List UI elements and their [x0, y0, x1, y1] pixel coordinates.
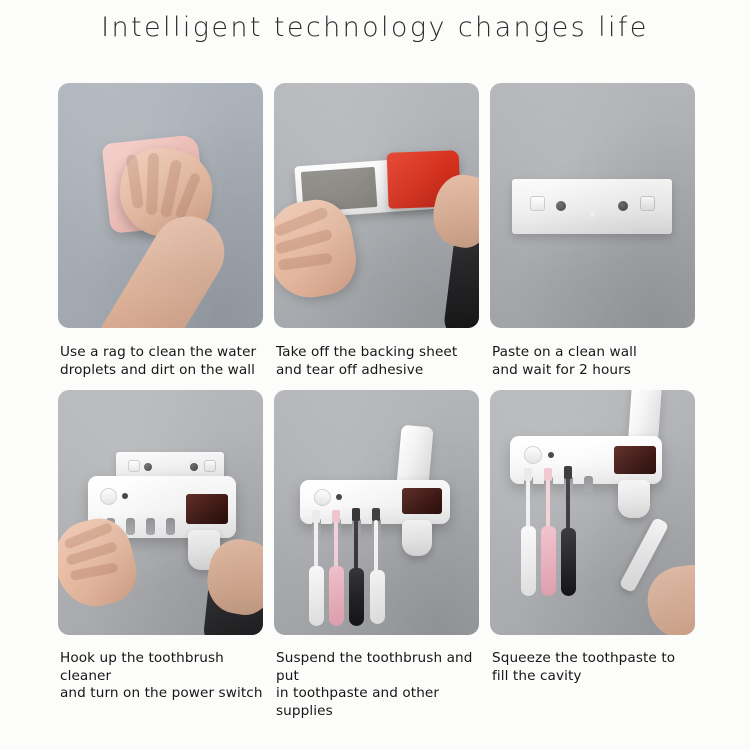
- step-caption-2: Take off the backing sheet and tear off …: [276, 344, 479, 379]
- brush-slot: [166, 518, 175, 535]
- power-button: [314, 489, 331, 506]
- step-caption-6: Squeeze the toothpaste to fill the cavit…: [492, 650, 695, 685]
- step-caption-3: Paste on a clean wall and wait for 2 hou…: [492, 344, 695, 379]
- mount-tab-right: [204, 460, 216, 472]
- step-photo-5: [274, 390, 479, 635]
- step-cell-3: Paste on a clean wall and wait for 2 hou…: [490, 83, 695, 379]
- step-cell-1: Use a rag to clean the water droplets an…: [58, 83, 263, 379]
- mount-tab-right: [640, 196, 655, 211]
- step-caption-4: Hook up the toothbrush cleaner and turn …: [60, 650, 263, 703]
- mount-center-mark: [590, 212, 595, 217]
- indicator-led: [336, 494, 342, 500]
- power-button: [524, 446, 542, 464]
- step-cell-4: Hook up the toothbrush cleaner and turn …: [58, 390, 263, 720]
- brush-slot: [126, 518, 135, 535]
- step-cell-5: Suspend the toothbrush and put in toothp…: [274, 390, 479, 720]
- power-button: [100, 488, 117, 505]
- brush-slot: [584, 476, 593, 493]
- dispenser-nozzle: [402, 520, 432, 556]
- step-photo-4: [58, 390, 263, 635]
- step-caption-1: Use a rag to clean the water droplets an…: [60, 344, 263, 379]
- step-photo-2: [274, 83, 479, 328]
- page-title: Intelligent technology changes life: [0, 12, 750, 43]
- step-cell-2: Take off the backing sheet and tear off …: [274, 83, 479, 379]
- steps-grid: Use a rag to clean the water droplets an…: [58, 83, 695, 720]
- infographic-page: Intelligent technology changes life Use …: [0, 0, 750, 750]
- step-caption-5: Suspend the toothbrush and put in toothp…: [276, 650, 479, 720]
- mount-dot-left: [556, 201, 566, 211]
- step-photo-3: [490, 83, 695, 328]
- mount-tab-left: [128, 460, 140, 472]
- indicator-led: [122, 493, 128, 499]
- mount-tab-left: [530, 196, 545, 211]
- brush-slot: [146, 518, 155, 535]
- uv-display-panel: [186, 494, 228, 524]
- uv-display-panel: [402, 488, 442, 514]
- hand-illustration: [643, 561, 695, 635]
- uv-display-panel: [614, 446, 656, 474]
- step-photo-6: [490, 390, 695, 635]
- mount-dot-right: [190, 463, 198, 471]
- mount-dot-right: [618, 201, 628, 211]
- mounting-plate-illustration: [512, 179, 672, 234]
- dispenser-nozzle: [618, 480, 650, 518]
- step-photo-1: [58, 83, 263, 328]
- mount-dot-left: [144, 463, 152, 471]
- indicator-led: [548, 452, 554, 458]
- step-cell-6: Squeeze the toothpaste to fill the cavit…: [490, 390, 695, 720]
